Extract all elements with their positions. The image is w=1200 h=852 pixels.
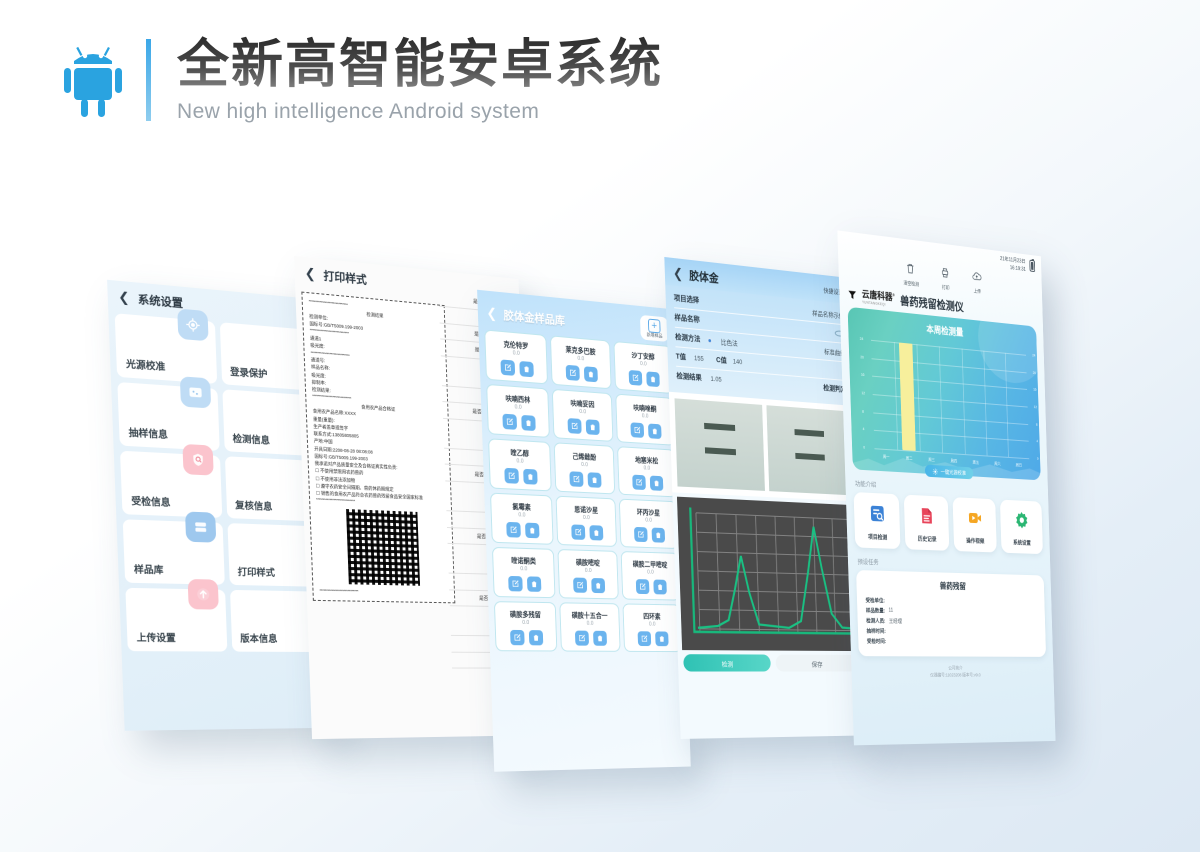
radio-selected-icon[interactable] [706,336,712,344]
form-value: 1.05 [710,375,721,383]
chart-y-tick: 4 [1036,440,1038,444]
brand-logo-icon [847,287,859,302]
sample-card[interactable]: 四环素0.0 [622,603,681,652]
screen-sample-library[interactable]: ❮ 胶体金样品库 + 新增样品 克伦特罗0.0莱克多巴胺0.0沙丁安醇0.0呋喃… [477,290,691,772]
sample-card[interactable]: 氯霉素0.0 [490,493,554,545]
toolbar-label: 上传 [972,288,983,295]
sun-icon [932,468,938,475]
form-label: 样品名称 [674,312,700,325]
edit-pencil-icon[interactable] [508,576,523,592]
product-name: 兽药残留检测仪 [900,292,964,315]
add-sample-label: 新增样品 [647,332,663,339]
chart-x-tick: 周一 [883,454,890,461]
sample-card[interactable]: 磺胺多残留0.0 [494,601,557,651]
chart-y-tick: 16 [1033,388,1036,392]
sample-card[interactable]: 沙丁安醇0.0 [613,341,673,394]
sidebar-item-label: 上传设置 [136,630,176,645]
edit-pencil-icon[interactable] [635,579,649,594]
task-field: 受检时间: [867,637,1038,649]
weekly-detection-chart: 本周检测量 0044881212161620202424周一周二周三周四周五周六… [848,307,1041,481]
edit-pencil-icon[interactable] [637,631,651,646]
sample-card[interactable]: 磺胺二甲嘧啶0.0 [621,551,680,601]
shield-search-icon [182,444,213,476]
sample-card-value: 0.0 [563,567,614,574]
sample-card[interactable]: 地塞米松0.0 [617,446,676,497]
printer-icon [940,266,951,280]
gear-icon [1013,510,1029,530]
sample-card[interactable]: 莱克多巴胺0.0 [550,335,612,389]
battery-icon [1029,260,1035,272]
edit-pencil-icon[interactable] [569,471,583,487]
sample-card[interactable]: 呋喃西林0.0 [486,384,550,438]
sidebar-item-sample-library[interactable]: 样品库 [123,519,225,584]
form-value-2: 140 [733,358,743,366]
trash-icon [905,261,916,275]
screens-stage: ❮ 系统设置 光源校准 [0,0,1200,852]
edit-pencil-icon[interactable] [571,524,585,540]
function-label: 历史记录 [907,534,948,544]
chart-y-tick: 20 [1033,371,1036,375]
edit-pencil-icon[interactable] [634,527,648,542]
function-system-settings[interactable]: 系统设置 [1000,500,1043,555]
edit-pencil-icon[interactable] [510,630,525,645]
toolbar-label: 清空检测 [904,280,920,288]
form-label: 检测方法 [675,332,701,345]
save-button[interactable]: 保存 [775,655,858,672]
chart-y-tick: 0 [863,446,865,450]
form-value: 155 [694,354,704,362]
edit-pencil-icon[interactable] [574,631,588,646]
chevron-left-icon[interactable]: ❮ [673,265,683,283]
trash-icon[interactable] [593,631,607,646]
sample-card[interactable]: 恩诺沙星0.0 [556,496,617,547]
sample-card-name: 磺胺二甲嘧啶 [625,558,674,569]
sidebar-item-label: 样品库 [134,561,164,576]
sample-card-value: 0.0 [565,620,616,627]
clear-detection-button[interactable]: 清空检测 [903,261,919,288]
chart-y-tick: 24 [860,337,864,341]
trash-icon[interactable] [585,419,599,435]
sample-card-value: 0.0 [495,511,548,519]
edit-pencil-icon[interactable] [628,370,642,386]
screen-colloidal-gold[interactable]: ❮ 胶体金 快捷设置 项目选择 样品名称示例 样品名称 检测方法 比色法 标准曲… [664,257,865,739]
sample-card[interactable]: 呋喃妥因0.0 [552,389,614,442]
sample-card[interactable]: 己烯雌酚0.0 [554,442,615,494]
toolbar-label: 打印 [940,285,951,292]
chart-bar [899,343,916,451]
sample-card[interactable]: 克伦特罗0.0 [484,329,548,384]
form-value: 比色法 [721,337,738,348]
sample-card-icon [179,376,210,408]
sample-card-value: 0.0 [497,565,550,572]
target-icon [177,308,208,341]
chart-y-tick: 0 [1037,457,1039,461]
screen-device-home[interactable]: 21年11月23日 16:19:31 清空检测 打印 上传 [837,230,1055,745]
trash-icon[interactable] [523,469,538,485]
function-label: 操作视频 [955,536,995,545]
sidebar-item-label: 抽样信息 [128,425,168,441]
chart-x-tick: 周四 [951,458,958,464]
edit-pencil-icon[interactable] [504,468,519,484]
chevron-left-icon[interactable]: ❮ [486,304,497,321]
trash-icon[interactable] [519,361,534,377]
sample-card-name: 四环素 [627,610,676,621]
chart-x-tick: 周三 [928,457,935,463]
function-project-detect[interactable]: 项目检测 [854,492,901,549]
sample-card[interactable]: 磺胺嘧啶0.0 [557,549,618,599]
sample-card-grid: 克伦特罗0.0莱克多巴胺0.0沙丁安醇0.0呋喃西林0.0呋喃妥因0.0呋喃唑酮… [478,329,686,652]
sample-card[interactable]: 环丙沙星0.0 [619,499,678,549]
trash-icon[interactable] [589,525,603,540]
chart-y-tick: 8 [862,409,864,413]
function-history[interactable]: 历史记录 [904,495,950,551]
project-detect-icon [868,503,886,524]
upload-button[interactable]: 上传 [971,269,982,295]
chevron-left-icon[interactable]: ❮ [304,265,316,283]
sample-card-name: 磺胺十五合一 [564,609,615,620]
cloud-upload-icon [971,269,982,283]
chart-y-tick: 20 [860,355,864,359]
trash-icon[interactable] [587,472,601,488]
company-intro-link[interactable]: 公司简介 [851,664,1053,672]
sample-card-value: 0.0 [561,514,612,522]
trash-icon[interactable] [648,423,662,439]
library-title: 胶体金样品库 [503,306,565,328]
trash-icon[interactable] [525,523,540,539]
edit-pencil-icon[interactable] [502,414,517,430]
sample-card-name: 磺胺多残留 [499,608,552,619]
sidebar-item-sampling-info[interactable]: 抽样信息 [117,382,219,451]
sidebar-item-label: 打印样式 [237,564,275,579]
trash-icon[interactable] [526,576,540,592]
settings-title: 系统设置 [138,291,184,311]
add-sample-button[interactable]: + 新增样品 [640,315,669,342]
sample-card[interactable]: 喹诺酮类0.0 [492,547,556,598]
edit-pencil-icon[interactable] [573,578,587,593]
upload-arrow-icon [187,579,218,610]
sidebar-item-inspected-info[interactable]: 受检信息 [120,451,222,518]
sidebar-item-label: 复核信息 [235,498,273,513]
edit-pencil-icon[interactable] [500,359,515,375]
trash-icon[interactable] [528,630,542,645]
trash-icon[interactable] [653,580,667,595]
function-cards: 项目检测 历史记录 操作视频 [846,492,1050,555]
print-button[interactable]: 打印 [940,266,951,292]
sample-card[interactable]: 喹乙醇0.0 [488,438,552,491]
chart-y-tick: 16 [861,373,865,377]
form-label: 项目选择 [674,293,700,306]
brand-mark: ® [892,292,895,297]
form-label: T值 [676,351,687,362]
receipt-preview: ***************************** 检测结果 检测单位:… [301,292,455,603]
sidebar-item-label: 光源校准 [126,356,166,373]
sidebar-item-label: 版本信息 [240,631,278,645]
chart-y-tick: 24 [1032,353,1035,357]
form-label: 检测结果 [676,371,702,383]
sidebar-item-upload-settings[interactable]: 上传设置 [125,588,227,652]
trash-icon[interactable] [646,371,660,387]
trash-icon[interactable] [651,528,665,543]
plus-box-icon: + [648,319,661,334]
sample-card-value: 0.0 [626,569,675,576]
edit-pencil-icon[interactable] [565,365,579,381]
sample-card[interactable]: 磺胺十五合一0.0 [559,602,620,652]
sidebar-item-label: 检测信息 [232,431,270,447]
function-label: 系统设置 [1003,538,1042,547]
sample-card-value: 0.0 [628,621,677,627]
sample-card-name: 恩诺沙星 [560,503,611,515]
trash-icon[interactable] [521,415,536,431]
preset-task-card[interactable]: 兽药残留 受检单位: 样品数量:11 检测人员:王经理 抽样时间: 受检时间: [856,570,1046,657]
edit-pencil-icon[interactable] [506,522,521,538]
function-video[interactable]: 操作视频 [953,497,997,552]
qr-code-icon [346,509,420,586]
database-icon [184,511,215,542]
sidebar-item-label: 登录保护 [230,364,268,381]
print-title: 打印样式 [323,267,367,288]
test-strip-image [669,392,858,502]
chart-y-tick: 12 [861,391,865,395]
chart-x-tick: 周日 [1016,462,1022,468]
chart-y-tick: 4 [863,427,865,431]
sample-card[interactable]: 呋喃唑酮0.0 [615,394,674,446]
colloidal-gold-title: 胶体金 [689,267,719,287]
chart-y-tick: 12 [1034,405,1037,409]
chart-y-tick: 8 [1036,422,1038,426]
video-play-icon [966,508,983,529]
sample-card-value: 0.0 [499,620,552,627]
form-label-2: C值 [716,355,727,366]
chart-plot-area: 0044881212161620202424周一周二周三周四周五周六周日 [871,340,1029,458]
sample-card-name: 喹诺酮类 [497,554,550,566]
edit-pencil-icon[interactable] [630,422,644,438]
function-label: 项目检测 [857,532,899,542]
chevron-left-icon[interactable]: ❮ [118,289,130,306]
edit-pencil-icon[interactable] [632,475,646,490]
trash-icon[interactable] [655,631,669,646]
settings-column-left: 光源校准 抽样信息 [115,313,227,651]
sample-card-name: 环丙沙星 [624,506,673,518]
calibrate-label: 一键光源校准 [941,468,967,476]
sidebar-item-light-calibration[interactable]: 光源校准 [115,313,217,384]
device-info-text: 仪器编号:11023208 版本号:v9.0 [852,672,1054,680]
sample-card-name: 磺胺嘧啶 [562,556,613,567]
preset-task-title: 兽药残留 [865,579,1037,594]
detect-button[interactable]: 检测 [683,654,770,671]
edit-pencil-icon[interactable] [567,418,581,434]
trash-icon[interactable] [583,366,597,382]
trash-icon[interactable] [591,578,605,593]
sample-card-value: 0.0 [624,517,673,525]
peak-curve-graph [677,497,858,651]
sidebar-item-label: 受检信息 [131,493,171,509]
trash-icon[interactable] [649,476,663,491]
history-doc-icon [918,505,935,526]
chart-x-tick: 周五 [973,460,980,466]
